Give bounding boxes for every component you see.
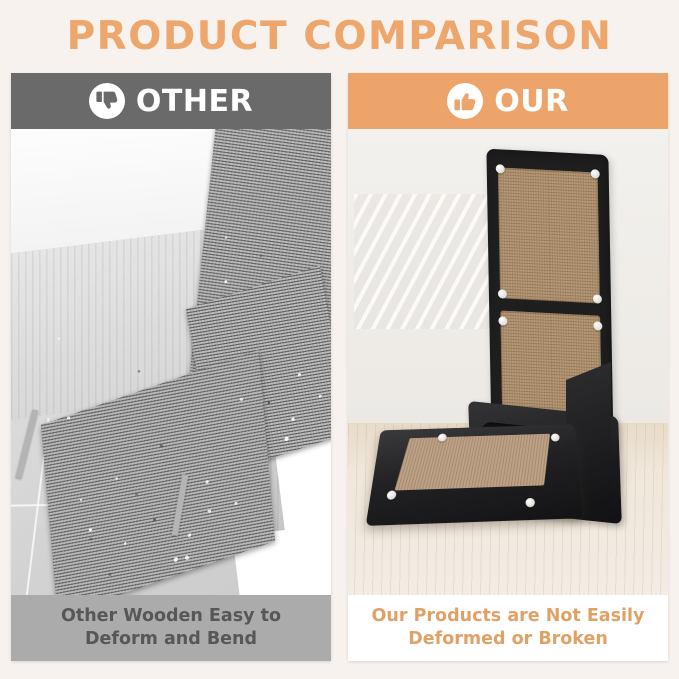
stud-base-front-right: [525, 498, 535, 508]
other-header-label: OTHER: [136, 84, 253, 119]
stud-base-back-right: [551, 433, 560, 441]
other-caption-line-1: Other Wooden Easy to: [61, 605, 281, 628]
comparison-card-other: OTHER Other Wooden Easy to Deform and Be…: [11, 73, 331, 661]
our-caption: Our Products are Not Easily Deformed or …: [348, 595, 668, 661]
scratcher-base-platform: [365, 424, 582, 525]
other-header: OTHER: [11, 73, 331, 129]
our-header-label: OUR: [494, 84, 568, 119]
stud-lower-left: [498, 317, 507, 326]
our-caption-line-2: Deformed or Broken: [408, 628, 608, 651]
comparison-card-our: OUR: [348, 73, 668, 661]
our-photo-scene: [348, 129, 668, 595]
stud-upper-right: [591, 169, 600, 178]
stud-mid-left: [497, 290, 506, 299]
our-header: OUR: [348, 73, 668, 129]
cardboard-panel-base: [394, 433, 550, 490]
other-caption: Other Wooden Easy to Deform and Bend: [11, 595, 331, 661]
thumbs-down-icon: [89, 83, 125, 119]
page-title: PRODUCT COMPARISON: [67, 14, 613, 59]
other-photo-scene: [11, 129, 331, 595]
our-caption-line-1: Our Products are Not Easily: [372, 605, 645, 628]
other-caption-line-2: Deform and Bend: [85, 628, 257, 651]
page-title-bar: PRODUCT COMPARISON: [0, 0, 679, 72]
cardboard-panel-upper: [497, 167, 599, 304]
thumbs-up-icon: [447, 83, 483, 119]
other-product-photo: [11, 129, 331, 595]
stud-lower-right: [593, 322, 602, 331]
stud-base-front-left: [386, 490, 397, 499]
stud-upper-left: [495, 164, 504, 173]
floor-debris: [11, 129, 331, 595]
our-product-photo: [348, 129, 668, 595]
